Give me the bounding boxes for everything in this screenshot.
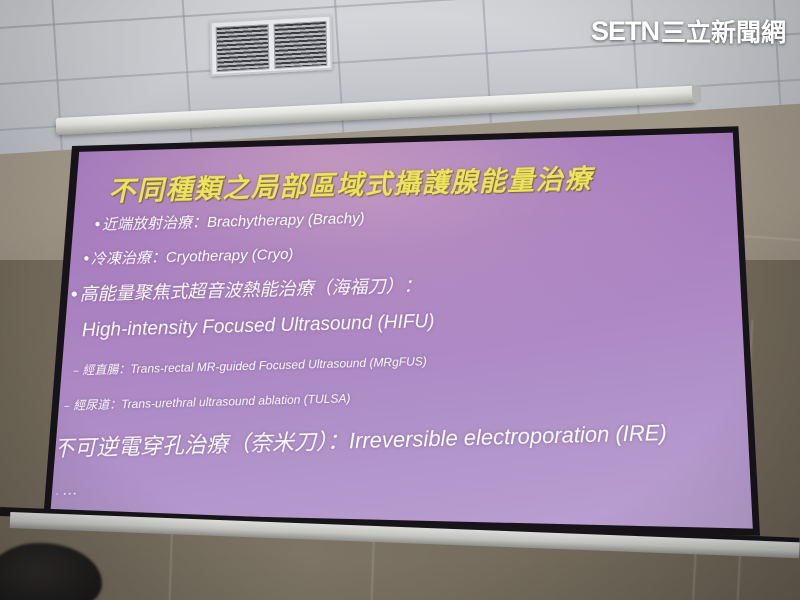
sub-bullet-tulsa: – 經尿道：Trans-urethral ultrasound ablation… [64,389,351,413]
bullet-chinese: 不可逆電穿孔治療（奈米刀）： [52,429,350,462]
sub-bullet-mrgfus: – 經直腸：Trans-rectal MR-guided Focused Ult… [73,352,427,378]
sub-bullet-chinese: 經尿道： [73,397,121,412]
ceiling-air-vent-icon [210,15,333,77]
bullet-chinese: 近端放射治療： [102,213,207,234]
bullet-chinese: 冷凍治療： [91,248,166,268]
bullet-ire: •不可逆電穿孔治療（奈米刀）：Irreversible electroporat… [39,415,668,463]
bullet-marker: • [69,284,80,305]
sub-bullet-chinese: 經直腸： [82,362,130,377]
watermark-chinese: 三立新聞網 [661,13,786,49]
bullet-hifu: •高能量聚焦式超音波熱能治療（海福刀）： [69,271,422,306]
bullet-brachytherapy: •近端放射治療：Brachytherapy (Brachy) [93,207,365,235]
sub-bullet-marker: – [64,399,70,413]
presentation-slide: 不同種類之局部區域式攝護腺能量治療 •近端放射治療：Brachytherapy … [0,110,800,551]
sub-bullet-english: Trans-rectal MR-guided Focused Ultrasoun… [130,354,427,376]
bullet-chinese: 高能量聚焦式超音波熱能治療（海福刀）： [79,275,421,305]
bullet-english: Irreversible electroporation (IRE) [349,420,667,453]
bullet-cryotherapy: •冷凍治療：Cryotherapy (Cryo) [82,243,294,270]
setn-watermark: SETN 三立新聞網 [591,13,786,49]
bullet-marker: • [93,216,102,234]
sub-bullet-english: Trans-urethral ultrasound ablation (TULS… [121,391,351,411]
watermark-latin: SETN [591,16,659,47]
photo-scene: 不同種類之局部區域式攝護腺能量治療 •近端放射治療：Brachytherapy … [0,0,800,600]
hifu-english-expansion: High-intensity Focused Ultrasound (HIFU) [82,311,435,342]
bullet-english: Cryotherapy (Cryo) [166,246,294,266]
bullet-marker: • [82,250,91,268]
bullet-english: Brachytherapy (Brachy) [207,210,365,231]
sub-bullet-marker: – [73,363,79,377]
slide-title: 不同種類之局部區域式攝護腺能量治療 [108,155,669,209]
